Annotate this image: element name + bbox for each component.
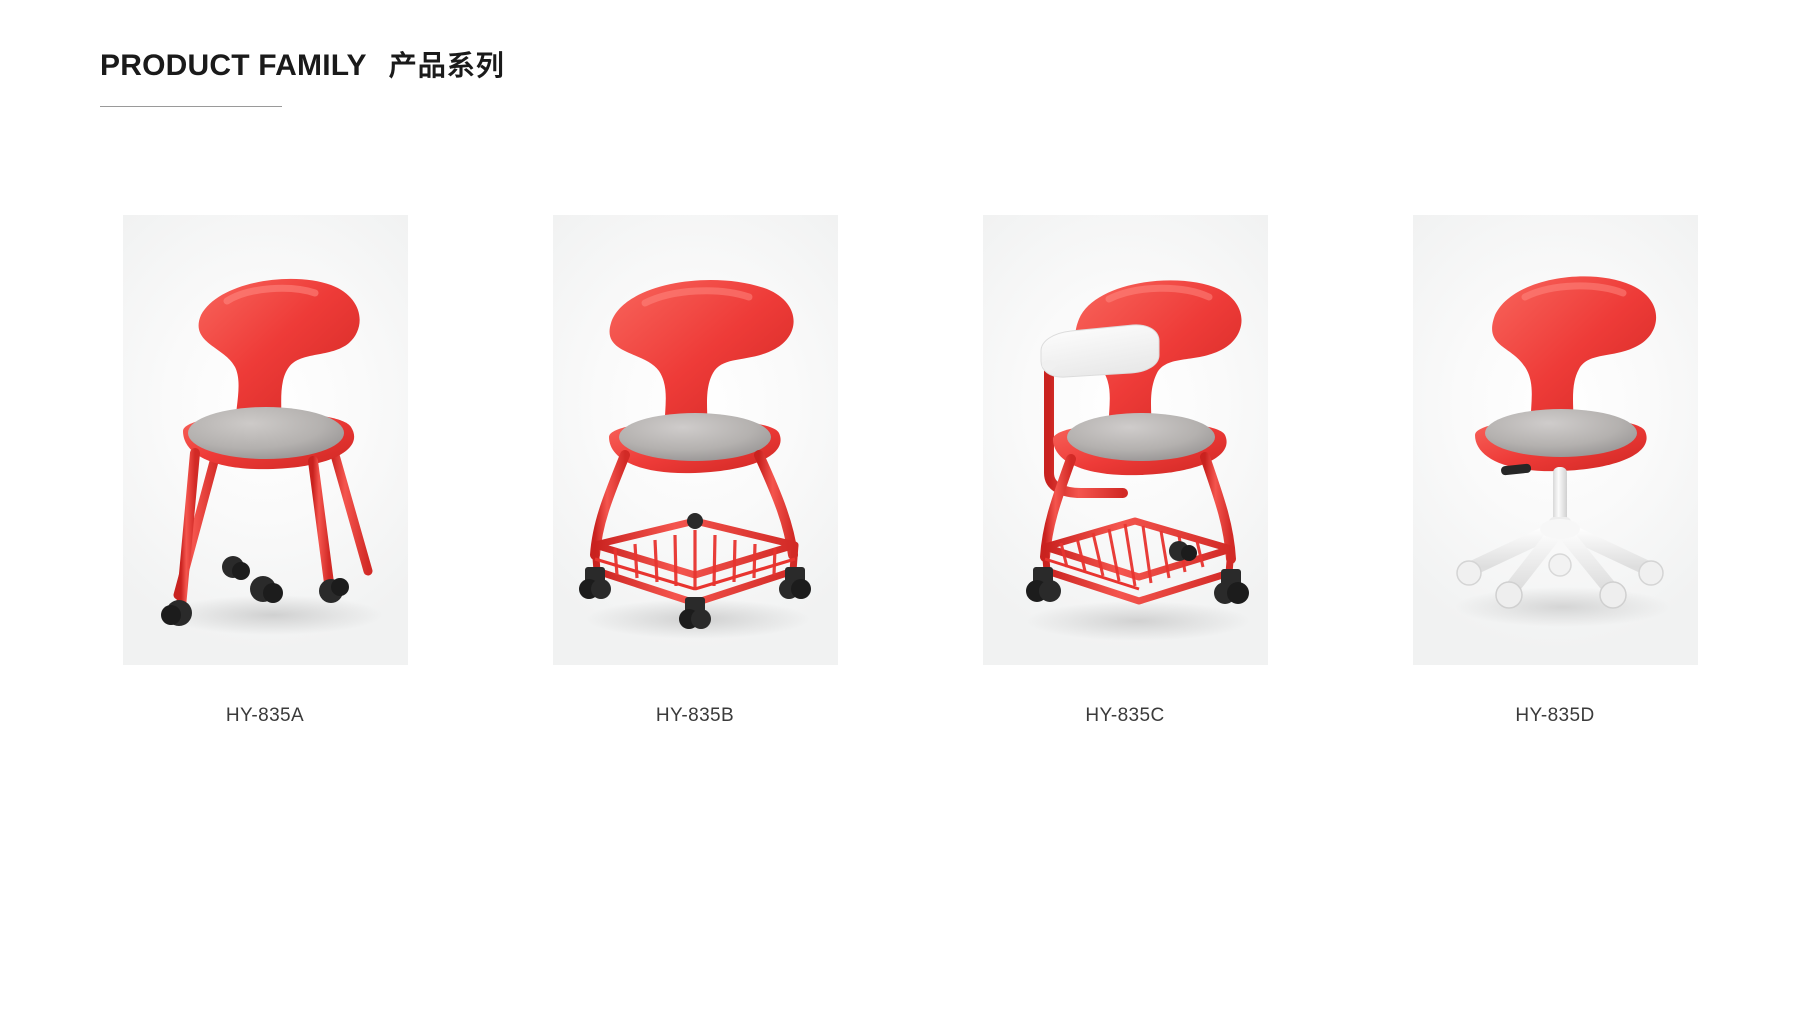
chair-backrest-shell bbox=[198, 279, 359, 429]
tablet-arm-pivot bbox=[1042, 360, 1056, 370]
chair-seat-pad bbox=[619, 413, 771, 461]
caster-wheel-right bbox=[1639, 561, 1663, 585]
product-card-hy-835c[interactable]: HY-835C bbox=[960, 215, 1290, 727]
caster-wheel-left bbox=[1457, 561, 1481, 585]
tablet-arm-surface bbox=[1041, 325, 1159, 377]
product-label-hy-835b: HY-835B bbox=[656, 705, 734, 727]
caster-wheel-front-right bbox=[1600, 582, 1626, 608]
caster-wheel-front-center bbox=[250, 576, 283, 603]
chair-seat-pad bbox=[188, 407, 344, 459]
caster-wheel-rear bbox=[1549, 554, 1571, 576]
page-title-chinese: 产品系列 bbox=[389, 44, 505, 84]
title-underline-rule bbox=[100, 106, 282, 107]
chair-seat-pad bbox=[1485, 409, 1637, 457]
chair-leg-front-left bbox=[181, 453, 195, 607]
wire-storage-basket bbox=[1045, 521, 1231, 601]
floor-shadow bbox=[1026, 601, 1250, 641]
caster-wheel-front-left bbox=[161, 600, 192, 626]
product-photo-hy-835a bbox=[123, 215, 408, 665]
wire-storage-basket bbox=[595, 521, 795, 603]
height-adjust-lever[interactable] bbox=[1500, 463, 1531, 475]
product-label-hy-835d: HY-835D bbox=[1515, 705, 1594, 727]
five-star-base bbox=[1475, 519, 1645, 587]
product-family-grid: HY-835A bbox=[100, 215, 1720, 727]
page-header: PRODUCT FAMILY 产品系列 bbox=[100, 44, 1000, 107]
caster-wheel-front-right bbox=[319, 578, 349, 603]
product-photo-hy-835c bbox=[983, 215, 1268, 665]
product-photo-hy-835b bbox=[553, 215, 838, 665]
chair-leg-rear-right bbox=[331, 441, 368, 571]
product-label-hy-835c: HY-835C bbox=[1085, 705, 1164, 727]
floor-shadow bbox=[1455, 587, 1671, 627]
product-photo-hy-835d bbox=[1413, 215, 1698, 665]
product-card-hy-835a[interactable]: HY-835A bbox=[100, 215, 430, 727]
page-title-english: PRODUCT FAMILY bbox=[100, 49, 367, 83]
product-card-hy-835d[interactable]: HY-835D bbox=[1390, 215, 1720, 727]
product-label-hy-835a: HY-835A bbox=[226, 705, 304, 727]
chair-seat-pad bbox=[1067, 413, 1215, 461]
caster-wheel-rear-center bbox=[687, 513, 703, 529]
caster-wheel-front-left bbox=[1496, 582, 1522, 608]
page-title: PRODUCT FAMILY 产品系列 bbox=[100, 44, 1000, 84]
chair-leg-front-right bbox=[313, 461, 329, 583]
chair-backrest-shell bbox=[609, 280, 793, 433]
product-card-hy-835b[interactable]: HY-835B bbox=[530, 215, 860, 727]
chair-backrest-shell bbox=[1492, 276, 1656, 429]
caster-wheel-rear bbox=[1169, 541, 1197, 561]
caster-wheel-rear-left bbox=[222, 556, 250, 580]
